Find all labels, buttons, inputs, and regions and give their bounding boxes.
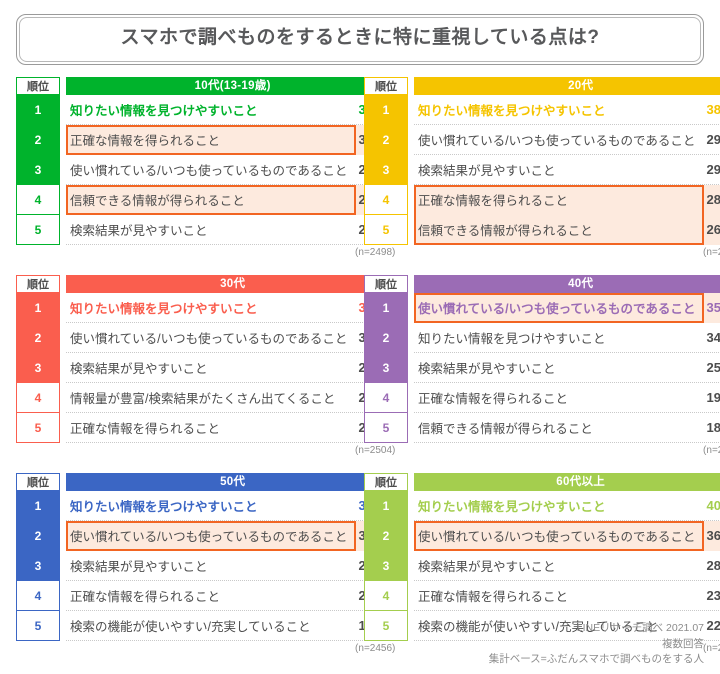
answer-percentage: 26.8% (695, 222, 720, 237)
answer-label: 正確な情報を得られること (418, 190, 695, 209)
rank-column-header: 順位 (16, 473, 60, 491)
answer-label: 検索結果が見やすいこと (70, 358, 347, 377)
table-row: 検索結果が見やすいこと27.2% (66, 215, 399, 245)
table-row: 知りたい情報を見つけやすいこと40.0% (414, 491, 720, 521)
table-row: 使い慣れている/いつも使っているものであること33.1% (66, 521, 399, 551)
rank-column-header: 順位 (364, 77, 408, 95)
data-column: 40代使い慣れている/いつも使っているものであること35.3%知りたい情報を見つ… (414, 275, 720, 459)
rank-cell-5: 5 (364, 611, 408, 641)
answer-label: 使い慣れている/いつも使っているものであること (70, 328, 347, 347)
rank-column: 順位12345 (364, 77, 408, 261)
answer-percentage: 29.2% (695, 162, 720, 177)
rank-column-spacer (364, 245, 408, 261)
rank-cell-2: 2 (364, 125, 408, 155)
answer-percentage: 38.0% (695, 102, 720, 117)
sample-size: (n=2498) (66, 245, 399, 261)
answer-label: 検索結果が見やすいこと (418, 358, 695, 377)
rank-cell-3: 3 (364, 353, 408, 383)
footer-answer-type: 複数回答 (489, 637, 704, 653)
rank-cell-5: 5 (16, 413, 60, 443)
sample-size: (n=2518) (414, 443, 720, 459)
answer-percentage: 18.3% (695, 420, 720, 435)
rank-cell-5: 5 (364, 215, 408, 245)
rank-cell-4: 4 (16, 383, 60, 413)
rank-cell-2: 2 (16, 323, 60, 353)
data-column: 50代知りたい情報を見つけやすいこと38.1%使い慣れている/いつも使っているも… (66, 473, 399, 657)
data-column: 10代(13-19歳)知りたい情報を見つけやすいこと36.5%正確な情報を得られ… (66, 77, 399, 261)
answer-percentage: 40.0% (695, 498, 720, 513)
sample-size: (n=2504) (66, 443, 399, 459)
rank-cell-4: 4 (16, 185, 60, 215)
table-row: 正確な情報を得られること19.5% (414, 383, 720, 413)
rank-cell-4: 4 (364, 581, 408, 611)
answer-label: 知りたい情報を見つけやすいこと (418, 100, 695, 119)
age-group-table-grid: 順位1234510代(13-19歳)知りたい情報を見つけやすいこと36.5%正確… (16, 77, 704, 657)
rank-column-spacer (364, 641, 408, 657)
rank-column: 順位12345 (16, 473, 60, 657)
answer-percentage: 28.0% (695, 192, 720, 207)
answer-percentage: 23.5% (695, 588, 720, 603)
rank-cell-2: 2 (364, 323, 408, 353)
answer-label: 知りたい情報を見つけやすいこと (418, 328, 695, 347)
title-banner-inner: スマホで調べものをするときに特に重視している点は? (19, 17, 701, 62)
answer-label: 正確な情報を得られること (70, 418, 347, 437)
rank-cell-3: 3 (16, 353, 60, 383)
table-row: 使い慣れている/いつも使っているものであること35.3% (414, 293, 720, 323)
answer-label: 正確な情報を得られること (418, 388, 695, 407)
rank-column-header: 順位 (364, 275, 408, 293)
rank-cell-1: 1 (364, 95, 408, 125)
data-column: 30代知りたい情報を見つけやすいこと37.2%使い慣れている/いつも使っているも… (66, 275, 399, 459)
age-group-header: 20代 (414, 77, 720, 95)
answer-label: 使い慣れている/いつも使っているものであること (418, 298, 695, 317)
rank-column: 順位12345 (16, 275, 60, 459)
rank-cell-2: 2 (16, 521, 60, 551)
answer-label: 正確な情報を得られること (70, 586, 347, 605)
table-row: 正確な情報を得られること23.8% (66, 581, 399, 611)
table-row: 知りたい情報を見つけやすいこと37.2% (66, 293, 399, 323)
answer-label: 使い慣れている/いつも使っているものであること (70, 160, 347, 179)
table-row: 知りたい情報を見つけやすいこと38.0% (414, 95, 720, 125)
answer-label: 正確な情報を得られること (70, 130, 347, 149)
answer-label: 検索の機能が使いやすい/充実していること (70, 616, 347, 635)
rank-cell-1: 1 (364, 491, 408, 521)
age-group-header: 40代 (414, 275, 720, 293)
answer-label: 信頼できる情報が得られること (418, 220, 695, 239)
answer-percentage: 29.2% (695, 132, 720, 147)
rank-cell-1: 1 (16, 293, 60, 323)
rank-column: 順位12345 (364, 473, 408, 657)
rank-cell-1: 1 (364, 293, 408, 323)
table-row: 知りたい情報を見つけやすいこと36.5% (66, 95, 399, 125)
rank-cell-1: 1 (16, 95, 60, 125)
answer-label: 検索結果が見やすいこと (418, 160, 695, 179)
rank-cell-3: 3 (16, 155, 60, 185)
rank-cell-3: 3 (364, 155, 408, 185)
ranking-table-forties: 順位1234540代使い慣れている/いつも使っているものであること35.3%知り… (364, 275, 704, 459)
rank-column: 順位12345 (16, 77, 60, 261)
table-row: 信頼できる情報が得られること18.3% (414, 413, 720, 443)
age-group-header: 10代(13-19歳) (66, 77, 399, 95)
table-row: 信頼できる情報が得られること26.8% (414, 215, 720, 245)
answer-label: 使い慣れている/いつも使っているものであること (418, 130, 695, 149)
answer-label: 知りたい情報を見つけやすいこと (70, 100, 347, 119)
answer-label: 知りたい情報を見つけやすいこと (418, 496, 695, 515)
answer-label: 検索結果が見やすいこと (418, 556, 695, 575)
table-row: 検索結果が見やすいこと29.2% (414, 155, 720, 185)
rank-column-spacer (16, 443, 60, 459)
rank-cell-3: 3 (16, 551, 60, 581)
rank-column-spacer (16, 641, 60, 657)
data-column: 20代知りたい情報を見つけやすいこと38.0%使い慣れている/いつも使っているも… (414, 77, 720, 261)
table-row: 正確な情報を得られること23.5% (414, 581, 720, 611)
ranking-table-fifties: 順位1234550代知りたい情報を見つけやすいこと38.1%使い慣れている/いつ… (16, 473, 356, 657)
table-row: 検索の機能が使いやすい/充実していること19.8% (66, 611, 399, 641)
age-group-header: 60代以上 (414, 473, 720, 491)
table-row: 使い慣れている/いつも使っているものであること29.2% (414, 125, 720, 155)
table-row: 検索結果が見やすいこと25.5% (414, 353, 720, 383)
rank-cell-3: 3 (364, 551, 408, 581)
title-banner: スマホで調べものをするときに特に重視している点は? (16, 14, 704, 65)
rank-column-header: 順位 (364, 473, 408, 491)
table-row: 使い慣れている/いつも使っているものであること29.3% (66, 155, 399, 185)
footer-source: LINEリサーチ調べ 2021.07 (489, 621, 704, 637)
table-row: 正確な情報を得られること30.0% (66, 125, 399, 155)
table-row: 使い慣れている/いつも使っているものであること36.6% (414, 521, 720, 551)
rank-cell-4: 4 (16, 581, 60, 611)
rank-column-spacer (364, 443, 408, 459)
table-row: 正確な情報を得られること22.3% (66, 413, 399, 443)
rank-cell-1: 1 (16, 491, 60, 521)
answer-label: 情報量が豊富/検索結果がたくさん出てくること (70, 388, 347, 407)
sample-size: (n=2510) (414, 245, 720, 261)
table-row: 検索結果が見やすいこと26.4% (66, 353, 399, 383)
answer-label: 検索結果が見やすいこと (70, 220, 347, 239)
ranking-table-thirties: 順位1234530代知りたい情報を見つけやすいこと37.2%使い慣れている/いつ… (16, 275, 356, 459)
answer-label: 信頼できる情報が得られること (70, 190, 347, 209)
rank-cell-5: 5 (16, 611, 60, 641)
table-row: 正確な情報を得られること28.0% (414, 185, 720, 215)
ranking-table-twenties: 順位1234520代知りたい情報を見つけやすいこと38.0%使い慣れている/いつ… (364, 77, 704, 261)
footer-base: 集計ベース=ふだんスマホで調べものをする人 (489, 652, 704, 668)
answer-percentage: 36.6% (695, 528, 720, 543)
table-row: 情報量が豊富/検索結果がたくさん出てくること22.7% (66, 383, 399, 413)
table-row: 知りたい情報を見つけやすいこと34.7% (414, 323, 720, 353)
answer-label: 正確な情報を得られること (418, 586, 695, 605)
infographic-page: スマホで調べものをするときに特に重視している点は? 順位1234510代(13-… (0, 14, 720, 674)
answer-percentage: 34.7% (695, 330, 720, 345)
answer-label: 知りたい情報を見つけやすいこと (70, 496, 347, 515)
rank-column-header: 順位 (16, 77, 60, 95)
table-row: 検索結果が見やすいこと26.8% (66, 551, 399, 581)
table-row: 信頼できる情報が得られること27.5% (66, 185, 399, 215)
answer-label: 知りたい情報を見つけやすいこと (70, 298, 347, 317)
answer-label: 検索結果が見やすいこと (70, 556, 347, 575)
table-row: 検索結果が見やすいこと28.3% (414, 551, 720, 581)
answer-percentage: 19.5% (695, 390, 720, 405)
answer-percentage: 35.3% (695, 300, 720, 315)
answer-label: 信頼できる情報が得られること (418, 418, 695, 437)
sample-size: (n=2456) (66, 641, 399, 657)
page-title: スマホで調べものをするときに特に重視している点は? (30, 27, 690, 50)
ranking-table-teens: 順位1234510代(13-19歳)知りたい情報を見つけやすいこと36.5%正確… (16, 77, 356, 261)
table-row: 使い慣れている/いつも使っているものであること30.3% (66, 323, 399, 353)
rank-cell-5: 5 (364, 413, 408, 443)
rank-cell-4: 4 (364, 185, 408, 215)
answer-percentage: 28.3% (695, 558, 720, 573)
answer-label: 使い慣れている/いつも使っているものであること (418, 526, 695, 545)
rank-column-header: 順位 (16, 275, 60, 293)
table-row: 知りたい情報を見つけやすいこと38.1% (66, 491, 399, 521)
rank-cell-2: 2 (364, 521, 408, 551)
answer-percentage: 25.5% (695, 360, 720, 375)
footer-credits: LINEリサーチ調べ 2021.07 複数回答 集計ベース=ふだんスマホで調べも… (489, 621, 704, 668)
rank-cell-4: 4 (364, 383, 408, 413)
age-group-header: 30代 (66, 275, 399, 293)
answer-label: 使い慣れている/いつも使っているものであること (70, 526, 347, 545)
rank-column: 順位12345 (364, 275, 408, 459)
rank-cell-2: 2 (16, 125, 60, 155)
rank-cell-5: 5 (16, 215, 60, 245)
rank-column-spacer (16, 245, 60, 261)
age-group-header: 50代 (66, 473, 399, 491)
